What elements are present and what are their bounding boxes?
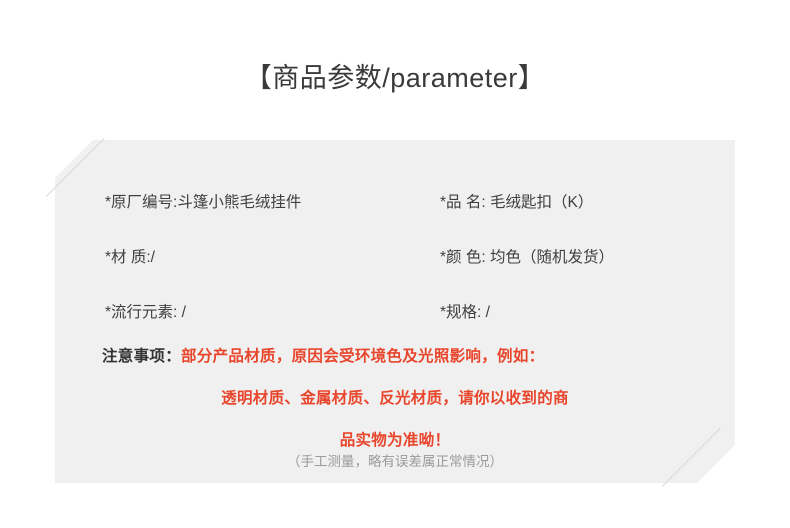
- spec-table: *原厂编号:斗篷小熊毛绒挂件 *品 名: 毛绒匙扣（K） *材 质:/ *颜 色…: [55, 140, 735, 305]
- spec-color: *颜 色: 均色（随机发货）: [440, 230, 614, 285]
- notice-block: 注意事项：部分产品材质，原因会受环境色及光照影响，例如： 透明材质、金属材质、反…: [55, 336, 735, 462]
- measurement-footnote: （手工测量，略有误差属正常情况）: [55, 452, 735, 472]
- notice-text-1: 部分产品材质，原因会受环境色及光照影响，例如：: [181, 348, 544, 365]
- spec-trend-element: *流行元素: /: [105, 285, 186, 340]
- spec-factory-code: *原厂编号:斗篷小熊毛绒挂件: [105, 175, 301, 230]
- spec-size: *规格: /: [440, 285, 490, 340]
- spec-row: *材 质:/ *颜 色: 均色（随机发货）: [55, 230, 735, 285]
- notice-label: 注意事项：: [102, 348, 181, 365]
- spec-row: *流行元素: / *规格: /: [55, 285, 735, 340]
- product-parameter-page: 【商品参数/parameter】 *原厂编号:斗篷小熊毛绒挂件 *品 名: 毛绒…: [0, 0, 790, 528]
- page-title: 【商品参数/parameter】: [0, 60, 790, 96]
- spec-row: *原厂编号:斗篷小熊毛绒挂件 *品 名: 毛绒匙扣（K）: [55, 175, 735, 230]
- notice-line-2: 透明材质、金属材质、反光材质，请你以收到的商: [55, 378, 735, 420]
- spec-product-name: *品 名: 毛绒匙扣（K）: [440, 175, 593, 230]
- spec-material: *材 质:/: [105, 230, 155, 285]
- notice-line-1: 注意事项：部分产品材质，原因会受环境色及光照影响，例如：: [55, 336, 735, 378]
